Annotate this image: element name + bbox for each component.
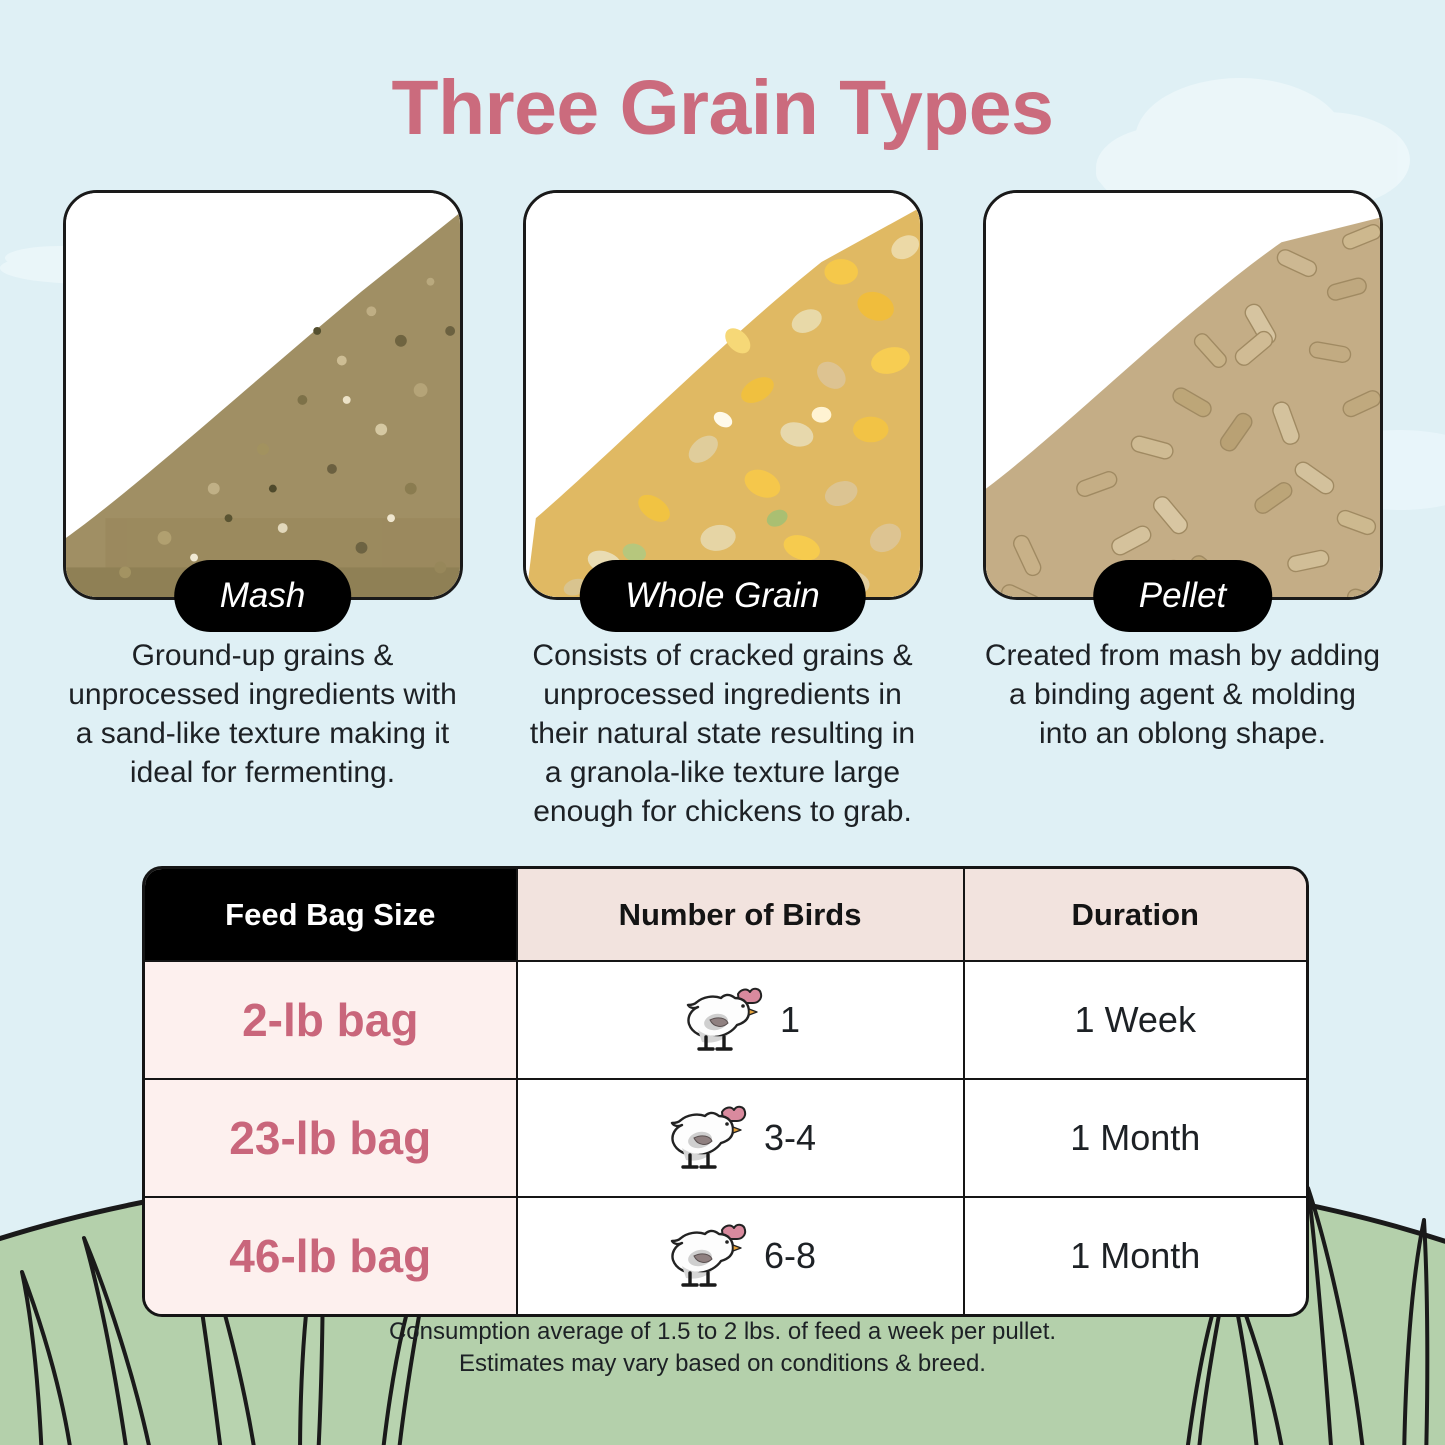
table-header-duration: Duration: [964, 869, 1307, 961]
table-header-number-of-birds: Number of Birds: [517, 869, 964, 961]
chicken-icon: [680, 982, 766, 1058]
table-row: 2-lb bag: [145, 961, 1306, 1079]
whole-grain-photo: [526, 193, 920, 597]
grain-card-whole-grain-frame: [523, 190, 923, 600]
grain-card-mash[interactable]: Mash: [63, 190, 463, 600]
table-cell-birds: 6-8: [517, 1197, 964, 1314]
grain-description-mash: Ground-up grains & unprocessed ingredien…: [63, 636, 463, 831]
page-title: Three Grain Types: [0, 64, 1445, 153]
chicken-icon: [664, 1218, 750, 1294]
grain-descriptions-row: Ground-up grains & unprocessed ingredien…: [0, 636, 1445, 831]
grain-card-pellet[interactable]: Pellet: [983, 190, 1383, 600]
grain-card-whole-grain[interactable]: Whole Grain: [523, 190, 923, 600]
mash-grain-photo: [66, 193, 460, 597]
birds-count: 3-4: [764, 1117, 816, 1159]
chicken-icon: [664, 1100, 750, 1176]
grain-description-whole-grain: Consists of cracked grains & unprocessed…: [523, 636, 923, 831]
table-cell-duration: 1 Month: [964, 1079, 1307, 1197]
footnote-line-1: Consumption average of 1.5 to 2 lbs. of …: [0, 1316, 1445, 1348]
table-cell-bag-size: 46-lb bag: [145, 1197, 517, 1314]
table-cell-bag-size: 23-lb bag: [145, 1079, 517, 1197]
feed-bag-table: Feed Bag Size Number of Birds Duration 2…: [142, 866, 1309, 1317]
footnote: Consumption average of 1.5 to 2 lbs. of …: [0, 1316, 1445, 1381]
table-row: 23-lb bag: [145, 1079, 1306, 1197]
table-row: 46-lb bag: [145, 1197, 1306, 1314]
grain-card-pellet-frame: [983, 190, 1383, 600]
table-cell-duration: 1 Month: [964, 1197, 1307, 1314]
birds-count: 1: [780, 999, 800, 1041]
grain-card-label-whole-grain: Whole Grain: [579, 560, 866, 632]
table-cell-bag-size: 2-lb bag: [145, 961, 517, 1079]
table-header-row: Feed Bag Size Number of Birds Duration: [145, 869, 1306, 961]
birds-count: 6-8: [764, 1235, 816, 1277]
table-cell-duration: 1 Week: [964, 961, 1307, 1079]
grain-card-label-mash: Mash: [174, 560, 352, 632]
grain-card-mash-frame: [63, 190, 463, 600]
table-header-feed-bag-size: Feed Bag Size: [145, 869, 517, 961]
grain-card-label-pellet: Pellet: [1093, 560, 1273, 632]
grain-description-pellet: Created from mash by adding a binding ag…: [983, 636, 1383, 831]
pellet-photo: [986, 193, 1380, 597]
table-cell-birds: 3-4: [517, 1079, 964, 1197]
footnote-line-2: Estimates may vary based on conditions &…: [0, 1348, 1445, 1380]
table-cell-birds: 1: [517, 961, 964, 1079]
grain-cards-row: Mash: [0, 190, 1445, 610]
